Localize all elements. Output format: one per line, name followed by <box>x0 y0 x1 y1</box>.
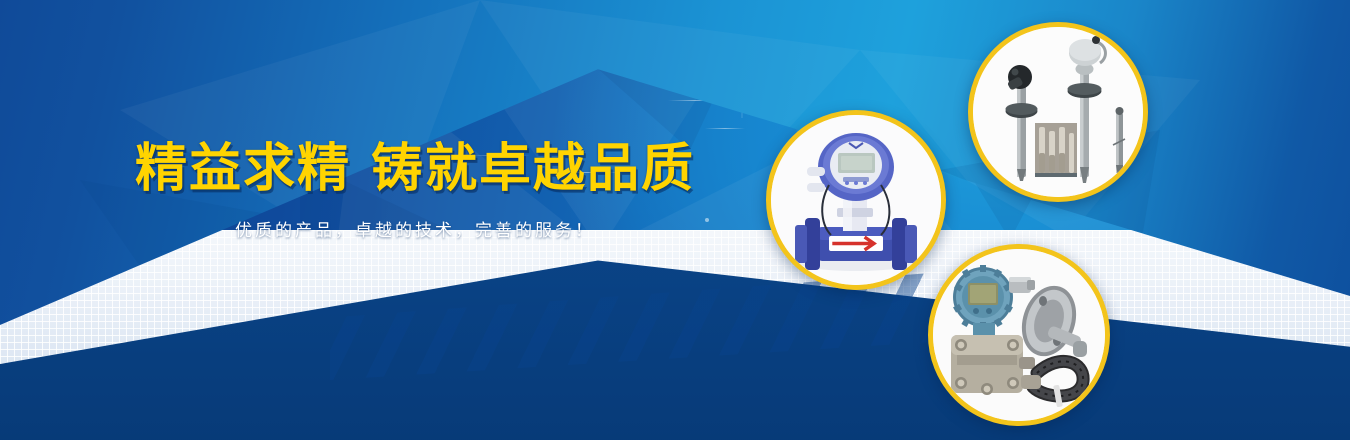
copy-block: 精益求精 铸就卓越品质 优质的产品，卓越的技术，完善的服务！ <box>0 142 830 241</box>
page-title: 精益求精 铸就卓越品质 <box>0 142 830 197</box>
promo-banner: ✦ ✦ ✦ 精益求精 铸就卓越品质 优质的产品，卓越的技术，完善的服务！ <box>0 0 1350 440</box>
product-circle-electromagnetic-flowmeter[interactable] <box>766 110 946 290</box>
temperature-sensor-icon <box>973 27 1143 197</box>
product-circle-pressure-transmitter[interactable] <box>928 244 1110 426</box>
product-circle-temperature-sensor[interactable] <box>968 22 1148 202</box>
page-subtitle: 优质的产品，卓越的技术，完善的服务！ <box>0 216 830 241</box>
pressure-transmitter-icon <box>933 249 1105 421</box>
glint-line <box>705 128 745 129</box>
electromagnetic-flowmeter-icon <box>771 115 941 285</box>
